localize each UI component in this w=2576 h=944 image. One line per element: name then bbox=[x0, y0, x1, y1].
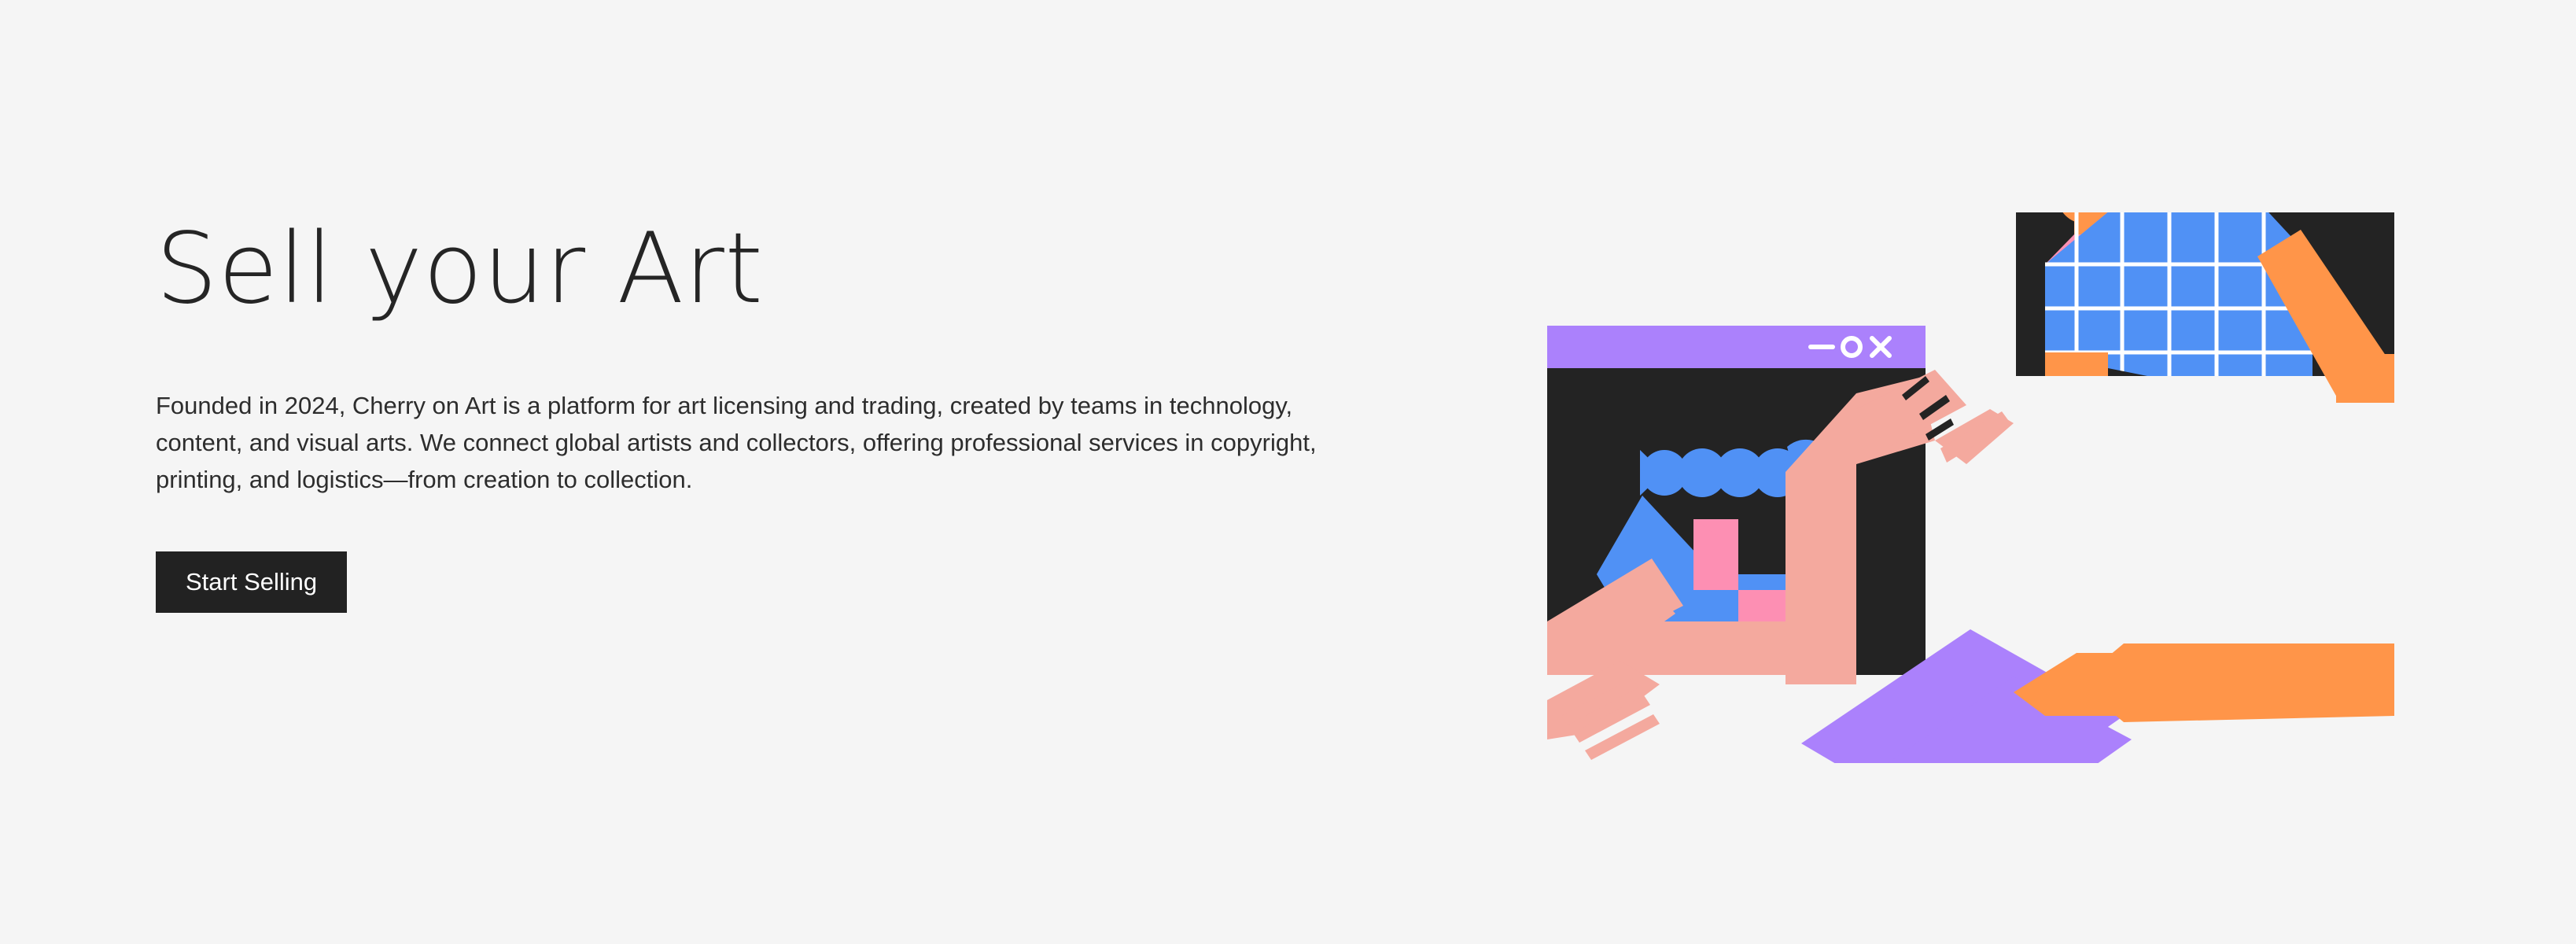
collector-window-titlebar[interactable] bbox=[1547, 326, 1926, 368]
hero-illustration bbox=[1526, 212, 2415, 763]
hero-copy-block: Sell your Art Founded in 2024, Cherry on… bbox=[156, 220, 1383, 613]
artist-window bbox=[2016, 212, 2394, 403]
collector-hand-left bbox=[1547, 661, 1660, 760]
artist-hand-left bbox=[1935, 409, 2014, 464]
page-title: Sell your Art bbox=[156, 220, 1383, 318]
artist-leg bbox=[2045, 352, 2108, 376]
artist-arm-foreground bbox=[2014, 643, 2394, 722]
hero-section: Sell your Art Founded in 2024, Cherry on… bbox=[0, 0, 2576, 944]
start-selling-button[interactable]: Start Selling bbox=[156, 551, 347, 613]
hero-description: Founded in 2024, Cherry on Art is a plat… bbox=[156, 387, 1351, 498]
